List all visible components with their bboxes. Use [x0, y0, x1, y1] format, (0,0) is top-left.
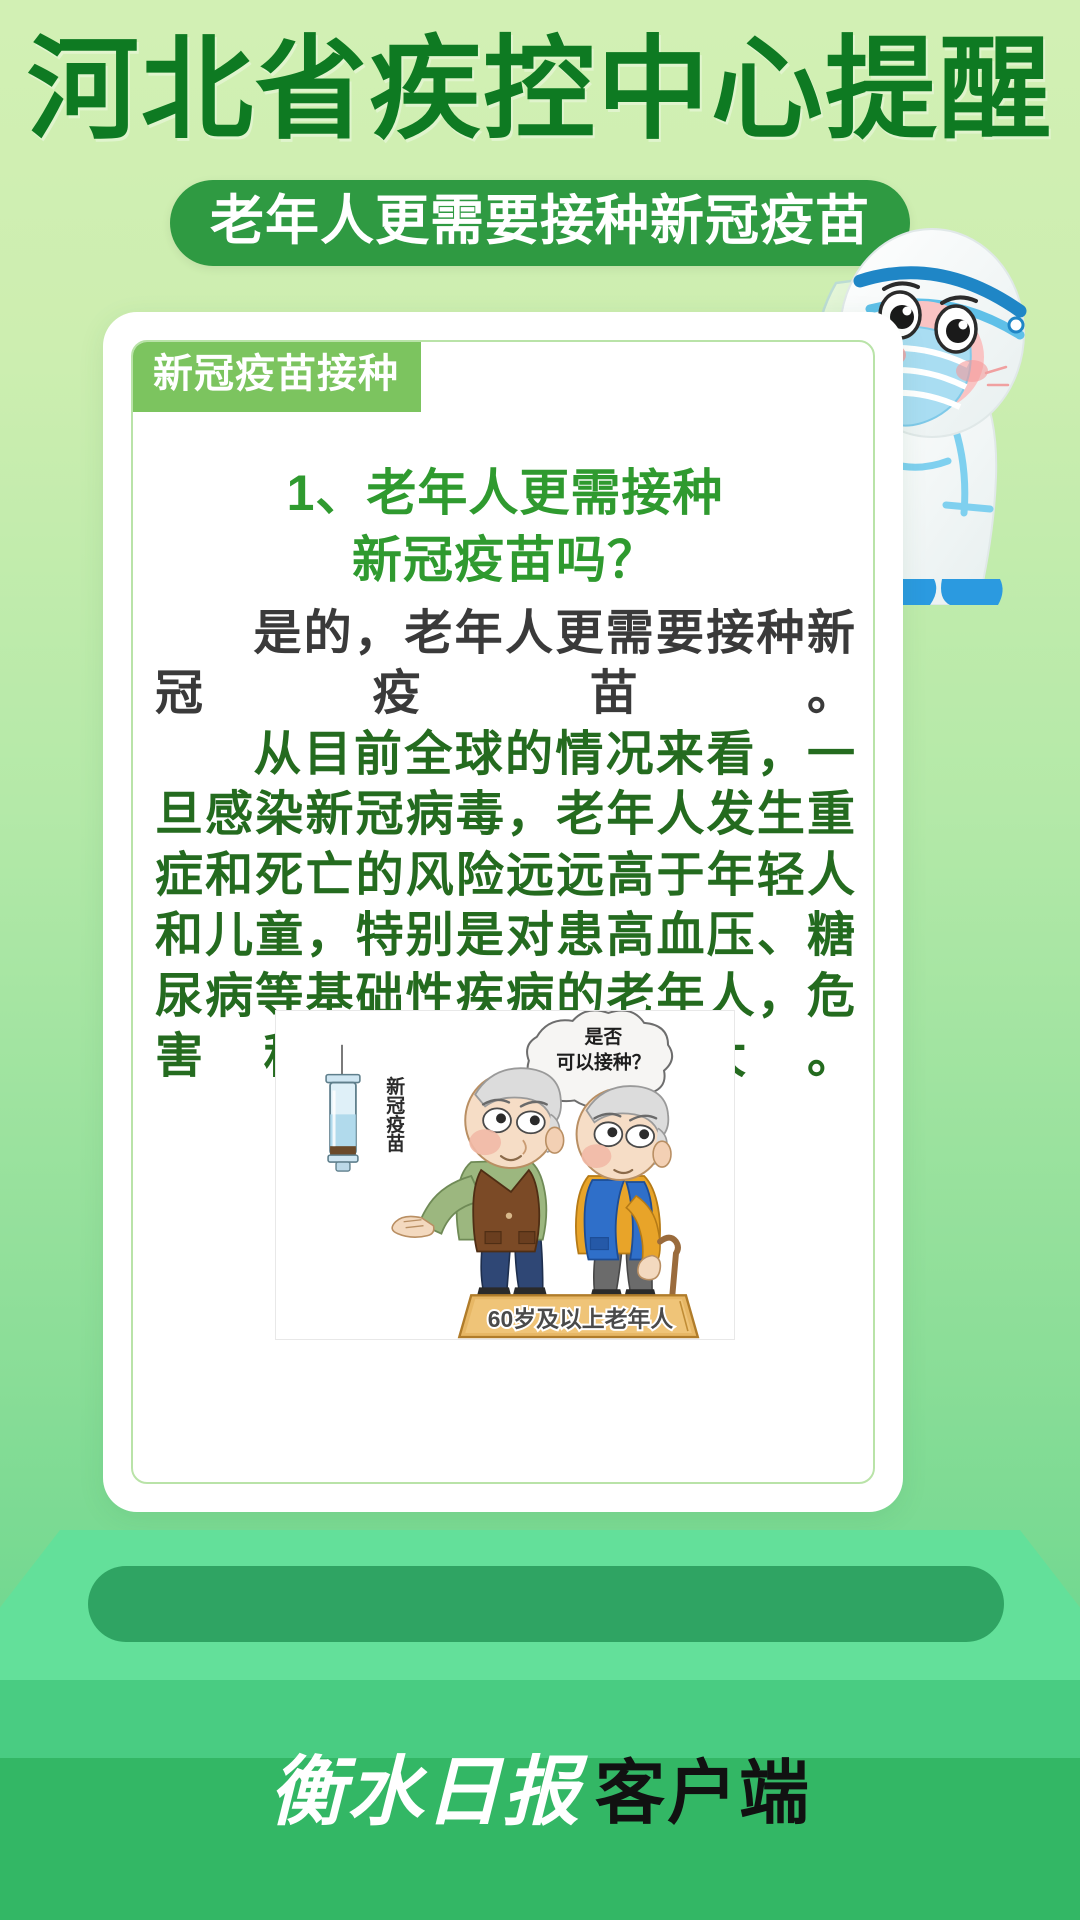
answer-paragraph-1-text: 是的，老年人更需要接种新冠疫苗。	[155, 607, 855, 720]
subtitle-pill: 老年人更需要接种新冠疫苗	[170, 180, 910, 266]
question-title-line-2: 新冠疫苗吗？	[133, 527, 875, 594]
syringe-label: 新冠疫苗	[383, 1075, 404, 1153]
thought-bubble-line-2: 可以接种？	[556, 1052, 650, 1074]
platform-label: 60岁及以上老年人	[488, 1306, 674, 1332]
footer-app-name: 客户端	[595, 1754, 811, 1832]
footer-logo: 衡水日报客户端	[0, 1755, 1080, 1831]
content-card-inner: 新冠疫苗接种 1、老年人更需接种 新冠疫苗吗？ 是的，老年人更需要接种新冠疫苗。…	[131, 340, 875, 1484]
elderly-vaccination-illustration: 新冠疫苗 是否 可以接种？	[275, 1010, 735, 1340]
page-title: 河北省疾控中心提醒	[0, 30, 1080, 153]
answer-paragraph-1: 是的，老年人更需要接种新冠疫苗。	[155, 604, 855, 725]
stage-layer-band-1	[0, 1680, 1080, 1758]
stage-layer-pill	[88, 1566, 1004, 1642]
section-badge: 新冠疫苗接种	[131, 340, 421, 412]
footer-brand: 衡水日报	[269, 1751, 581, 1835]
question-title: 1、老年人更需接种 新冠疫苗吗？	[133, 460, 875, 594]
thought-bubble-line-1: 是否	[585, 1026, 623, 1048]
content-card: 新冠疫苗接种 1、老年人更需接种 新冠疫苗吗？ 是的，老年人更需要接种新冠疫苗。…	[103, 312, 903, 1512]
poster-root: 河北省疾控中心提醒 老年人更需要接种新冠疫苗	[0, 0, 1080, 1920]
question-title-line-1: 1、老年人更需接种	[133, 460, 875, 527]
